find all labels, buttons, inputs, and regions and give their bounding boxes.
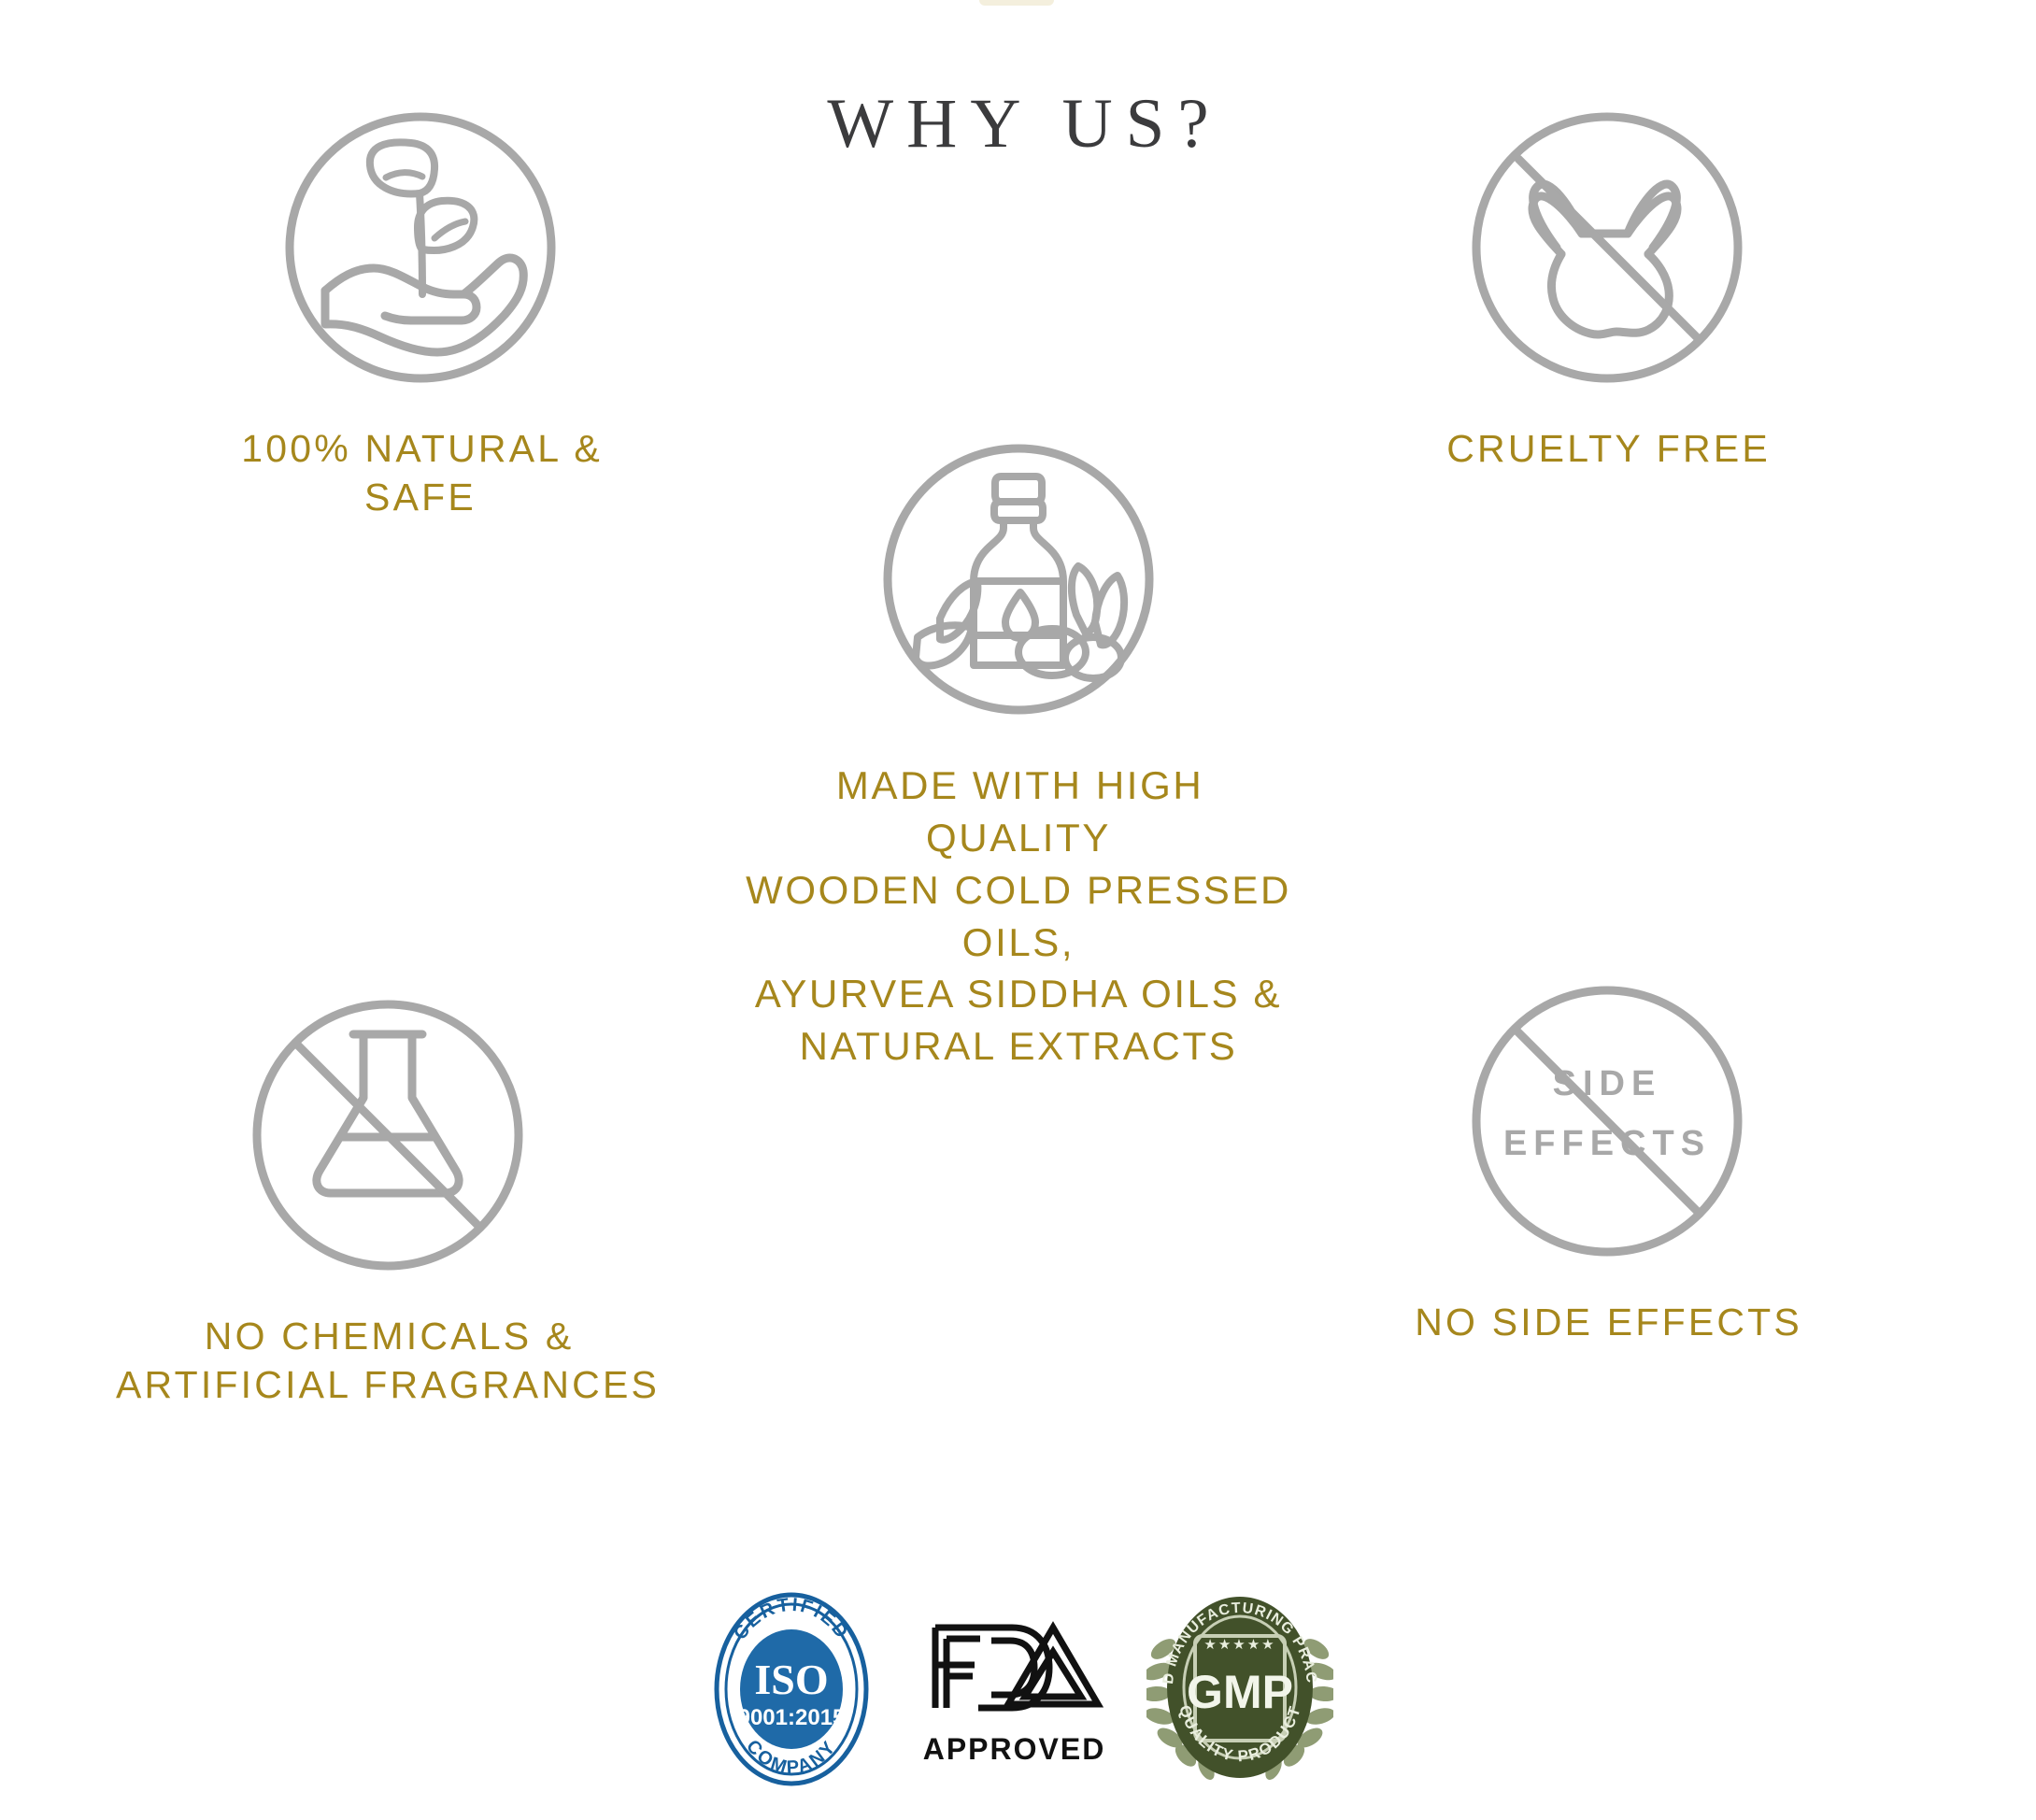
- effects-text: EFFECTS: [1503, 1124, 1711, 1163]
- feature-no-side-effects: SIDE EFFECTS NO SIDE EFFECTS: [1322, 981, 1892, 1346]
- gmp-badge: GOOD MANUFACTURING PRACTICE QUALITY PROD…: [1146, 1591, 1333, 1787]
- fda-badge: APPROVED: [921, 1607, 1106, 1767]
- fda-approved-caption: APPROVED: [921, 1732, 1106, 1767]
- certification-badges: CERTIFIED COMPANY ISO 9001:2015: [0, 1588, 2036, 1789]
- feature-high-quality-oils: MADE WITH HIGH QUALITY WOODEN COLD PRESS…: [738, 439, 1299, 1073]
- feature-label: CRUELTY FREE: [1444, 424, 1771, 473]
- fda-logo-icon: [922, 1607, 1104, 1728]
- no-side-effects-icon: SIDE EFFECTS: [1467, 981, 1747, 1266]
- feature-cruelty-free: CRUELTY FREE: [1327, 107, 1887, 473]
- iso-badge: CERTIFIED COMPANY ISO 9001:2015: [703, 1588, 880, 1789]
- iso-center-sub: 9001:2015: [737, 1705, 845, 1730]
- top-cream-sliver: [979, 0, 1054, 6]
- no-flask-icon: [248, 995, 528, 1280]
- no-rabbit-icon: [1467, 107, 1747, 392]
- gmp-center-main: GMP: [1187, 1666, 1293, 1718]
- feature-label: MADE WITH HIGH QUALITY WOODEN COLD PRESS…: [738, 760, 1299, 1073]
- gmp-stars: ★★★★★: [1204, 1637, 1276, 1653]
- feature-label: NO SIDE EFFECTS: [1412, 1298, 1802, 1346]
- feature-label: 100% NATURAL & SAFE: [238, 424, 603, 522]
- feature-label: NO CHEMICALS & ARTIFICIAL FRAGRANCES: [116, 1312, 660, 1410]
- oil-bottle-with-leaves-icon: [878, 439, 1159, 724]
- feature-no-chemicals: NO CHEMICALS & ARTIFICIAL FRAGRANCES: [98, 995, 677, 1410]
- iso-center-main: ISO: [754, 1656, 828, 1703]
- feature-natural-safe: 100% NATURAL & SAFE: [140, 107, 701, 522]
- plant-in-hand-icon: [280, 107, 561, 392]
